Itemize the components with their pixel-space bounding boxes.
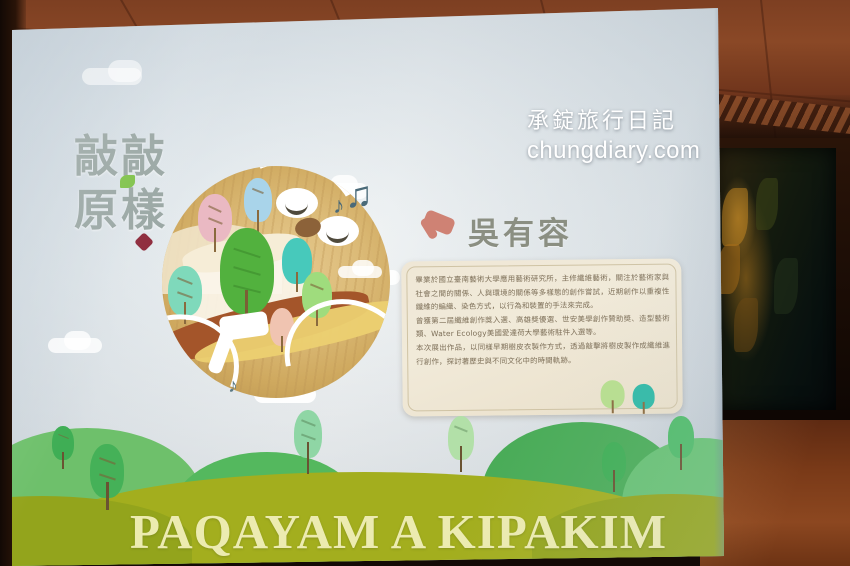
hill-tree-3 [294,410,322,476]
artist-bio-text: 畢業於國立臺南藝術大學應用藝術研究所，主修纖維藝術，關注於藝術家與社會之間的關係… [415,271,670,369]
bio-paragraph-1: 畢業於國立臺南藝術大學應用藝術研究所，主修纖維藝術，關注於藝術家與社會之間的關係… [415,271,669,314]
hills-scenery: PAQAYAM A KIPAKIM [12,376,724,566]
cloud-decoration [108,60,142,82]
watermark: 承錠旅行日記 chungdiary.com [527,108,700,166]
mallet-illustration [210,312,272,374]
title-line-1: 敲敲 [74,131,168,182]
screenshot-root: 敲敲 原樣 [0,0,850,566]
eye-right [317,216,359,246]
hill-tree-2 [90,444,124,512]
hill-tree-1 [52,426,74,470]
bio-paragraph-2: 曾獲第二屆纖維創作獎入選、高雄獎優選、世安美學創作贊助獎、造型藝術類、Water… [416,311,670,341]
bio-paragraph-3: 本次展出作品，以同樣早期樹皮衣製作方式，透過敲擊將樹皮製作成纖維進行創作，探討著… [416,339,670,369]
watermark-cn: 承錠旅行日記 [527,108,700,136]
watermark-url: chungdiary.com [527,136,700,166]
hill-tree-4 [448,416,474,476]
eye-left [276,188,318,218]
artist-name: 吳有容 [468,208,573,253]
bottom-title: PAQAYAM A KIPAKIM [130,503,650,560]
artist-row: 吳有容 [416,208,573,253]
exhibition-board: 敲敲 原樣 [12,8,724,566]
title-leaf-green-icon [120,175,135,188]
music-note-single-icon: ♪ [333,194,345,217]
hill-tree-5 [602,442,626,496]
hill-tree-6 [668,416,694,474]
tree-blue [244,178,272,230]
cloud-decoration [64,331,91,350]
music-note-beamed-icon: ♫ [345,176,373,213]
mallet-icon [416,212,456,250]
cloud-in-circle [352,260,374,276]
dark-display-panel [716,148,836,410]
